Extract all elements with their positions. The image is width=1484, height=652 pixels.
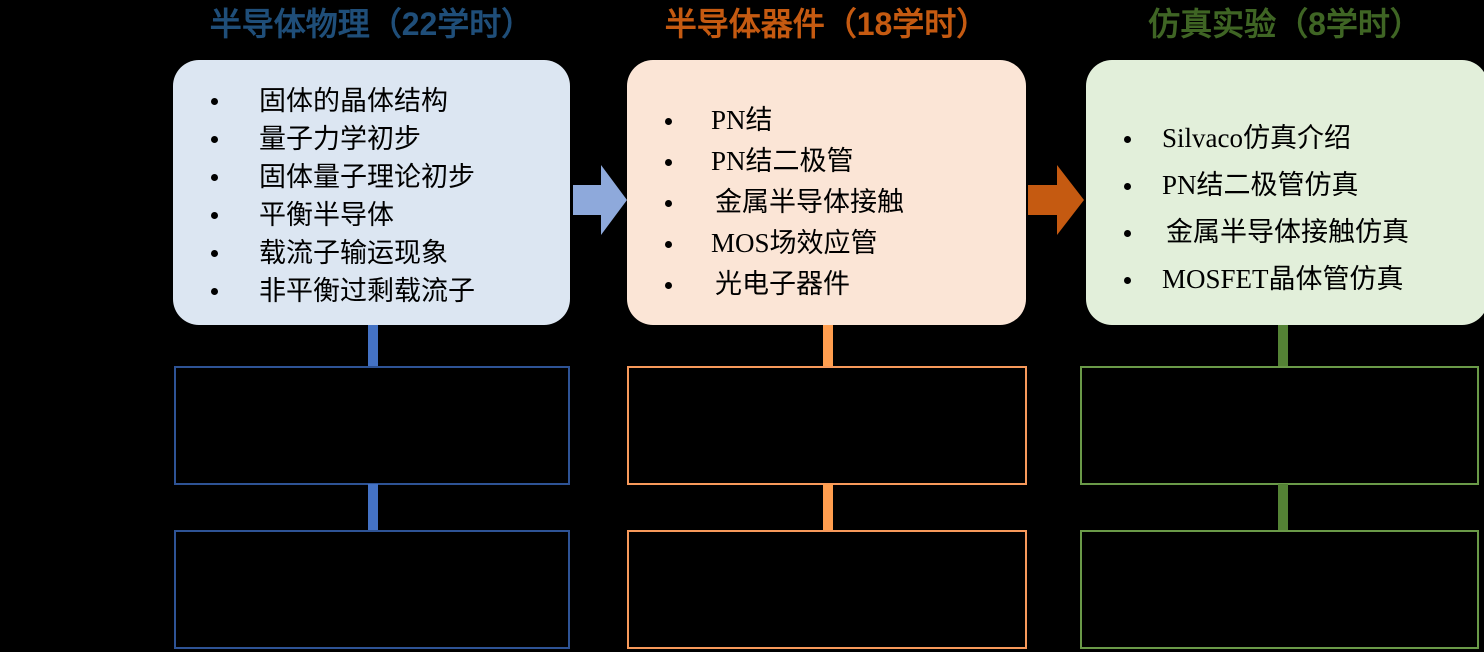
bullet-dot-icon: [211, 98, 218, 105]
connector-bar-simulation-lower: [1278, 484, 1288, 531]
list-item-label: 光电子器件: [715, 264, 850, 305]
list-item-label: 固体的晶体结构: [259, 82, 448, 120]
arrow-devices-to-simulation: [1028, 163, 1084, 237]
list-item: MOSFET晶体管仿真: [1124, 256, 1484, 303]
column-title-semiconductor-devices: 半导体器件（18学时）: [627, 6, 1026, 42]
list-item-label: 非平衡过剩载流子: [259, 272, 475, 310]
bullet-dot-icon: [665, 118, 672, 125]
list-item-label: PN结: [711, 100, 773, 141]
column-title-simulation-experiment: 仿真实验（8学时）: [1086, 6, 1484, 42]
list-item: 光电子器件: [665, 264, 1026, 305]
bullet-dot-icon: [211, 136, 218, 143]
list-item-label: 固体量子理论初步: [259, 158, 475, 196]
list-item: 平衡半导体: [211, 196, 570, 234]
list-item-label: PN结二极管: [711, 141, 854, 182]
card-semiconductor-devices: PN结 PN结二极管 金属半导体接触 MOS场效应管 光电子器件: [627, 60, 1026, 325]
bullet-dot-icon: [1124, 183, 1131, 190]
card-simulation-experiment: Silvaco仿真介绍 PN结二极管仿真 金属半导体接触仿真 MOSFET晶体管…: [1086, 60, 1484, 325]
arrow-right-icon: [573, 163, 627, 237]
list-item-label: 量子力学初步: [259, 120, 421, 158]
arrow-right-icon: [1028, 163, 1084, 237]
list-item-label: 平衡半导体: [259, 196, 394, 234]
list-item: 载流子输运现象: [211, 234, 570, 272]
column-title-semiconductor-physics: 半导体物理（22学时）: [173, 6, 570, 42]
list-item: 固体的晶体结构: [211, 82, 570, 120]
bullet-dot-icon: [211, 212, 218, 219]
list-item: 非平衡过剩载流子: [211, 272, 570, 310]
list-item: 量子力学初步: [211, 120, 570, 158]
list-item: MOS场效应管: [665, 223, 1026, 264]
connector-bar-physics-upper: [368, 325, 378, 367]
bullet-dot-icon: [1124, 230, 1131, 237]
list-item: PN结二极管: [665, 141, 1026, 182]
list-item: Silvaco仿真介绍: [1124, 115, 1484, 162]
bullet-dot-icon: [1124, 277, 1131, 284]
list-item: PN结二极管仿真: [1124, 162, 1484, 209]
bullet-dot-icon: [665, 241, 672, 248]
diagram-canvas: 半导体物理（22学时） 固体的晶体结构 量子力学初步 固体量子理论初步 平衡半导…: [0, 0, 1484, 652]
list-item-label: PN结二极管仿真: [1162, 162, 1359, 209]
connector-bar-devices-upper: [823, 325, 833, 367]
list-item-label: MOSFET晶体管仿真: [1162, 256, 1404, 303]
list-item: PN结: [665, 100, 1026, 141]
arrow-physics-to-devices: [573, 163, 627, 237]
bullet-dot-icon: [665, 159, 672, 166]
bullet-dot-icon: [1124, 136, 1131, 143]
bullet-dot-icon: [665, 200, 672, 207]
list-item-label: 载流子输运现象: [259, 234, 448, 272]
connector-bar-physics-lower: [368, 484, 378, 531]
list-item-label: MOS场效应管: [711, 223, 878, 264]
bullet-list-semiconductor-physics: 固体的晶体结构 量子力学初步 固体量子理论初步 平衡半导体 载流子输运现象 非平…: [173, 82, 570, 310]
empty-box-physics-1: [174, 366, 570, 485]
connector-bar-devices-lower: [823, 484, 833, 531]
empty-box-simulation-1: [1080, 366, 1479, 485]
list-item: 金属半导体接触仿真: [1124, 209, 1484, 256]
list-item-label: 金属半导体接触仿真: [1166, 209, 1409, 256]
list-item: 金属半导体接触: [665, 182, 1026, 223]
empty-box-devices-2: [627, 530, 1027, 649]
list-item-label: Silvaco仿真介绍: [1162, 115, 1351, 162]
empty-box-simulation-2: [1080, 530, 1479, 649]
list-item: 固体量子理论初步: [211, 158, 570, 196]
bullet-dot-icon: [211, 288, 218, 295]
empty-box-physics-2: [174, 530, 570, 649]
bullet-dot-icon: [211, 250, 218, 257]
bullet-list-simulation-experiment: Silvaco仿真介绍 PN结二极管仿真 金属半导体接触仿真 MOSFET晶体管…: [1086, 115, 1484, 303]
bullet-list-semiconductor-devices: PN结 PN结二极管 金属半导体接触 MOS场效应管 光电子器件: [627, 100, 1026, 305]
connector-bar-simulation-upper: [1278, 325, 1288, 367]
card-semiconductor-physics: 固体的晶体结构 量子力学初步 固体量子理论初步 平衡半导体 载流子输运现象 非平…: [173, 60, 570, 325]
bullet-dot-icon: [665, 282, 672, 289]
empty-box-devices-1: [627, 366, 1027, 485]
list-item-label: 金属半导体接触: [715, 182, 904, 223]
bullet-dot-icon: [211, 174, 218, 181]
